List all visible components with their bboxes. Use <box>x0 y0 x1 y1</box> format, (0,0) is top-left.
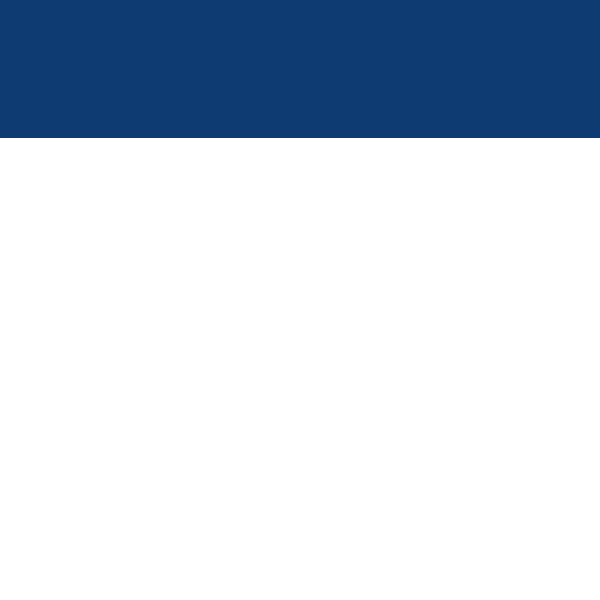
infographic-root <box>0 0 600 600</box>
transition-steps-grid <box>0 138 600 600</box>
header-banner <box>0 0 600 138</box>
